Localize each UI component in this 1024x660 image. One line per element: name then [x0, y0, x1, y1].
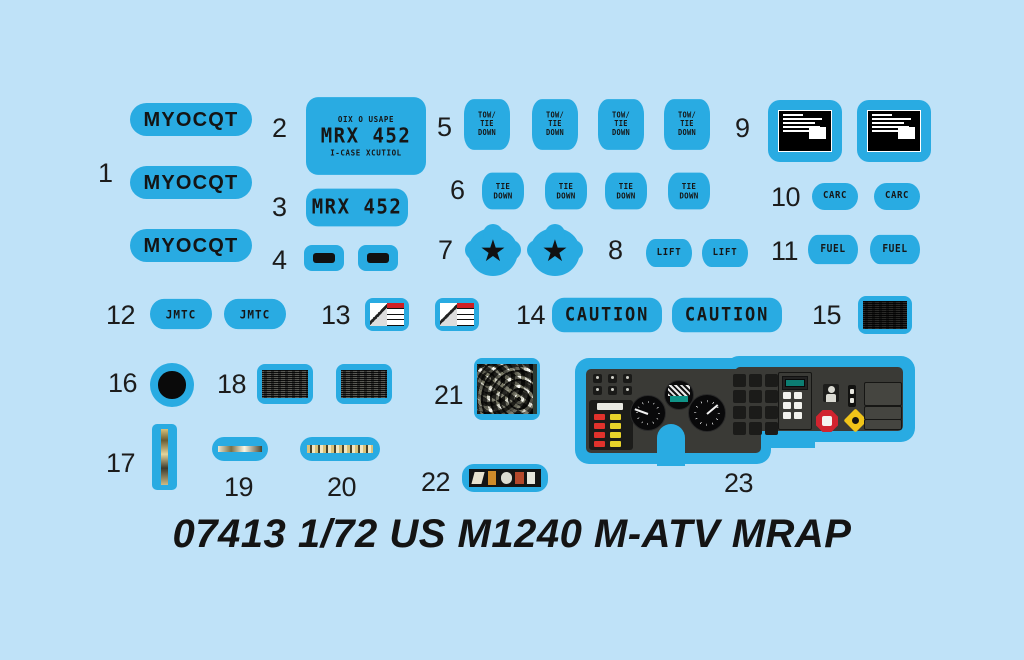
keypad-key[interactable]	[783, 392, 791, 399]
decal-number-7: 7	[438, 237, 453, 264]
decal-colour-strip[interactable]	[462, 464, 548, 492]
decal-text: LIFT	[657, 248, 682, 258]
breaker-cell[interactable]	[749, 390, 762, 403]
decal-number-14: 14	[516, 302, 545, 329]
decal-fuel-2[interactable]: FUEL	[870, 235, 920, 264]
decal-tow-tiedown-1[interactable]: TOW/ TIE DOWN	[464, 99, 510, 150]
decal-pictogram-13a[interactable]	[365, 298, 409, 331]
decal-number-23: 23	[724, 470, 753, 497]
switch-icon[interactable]	[608, 374, 617, 383]
breaker-cell[interactable]	[733, 374, 746, 387]
decal-star-1[interactable]: ★	[468, 228, 518, 276]
decal-tow-tiedown-4[interactable]: TOW/ TIE DOWN	[664, 99, 710, 150]
decal-star-2[interactable]: ★	[530, 228, 580, 276]
decal-placard-18b[interactable]	[336, 364, 392, 404]
indicator-light-yellow	[610, 423, 621, 429]
decal-text-line1: OIX O USAPE	[338, 115, 394, 123]
decal-text: CARC	[885, 192, 909, 202]
breaker-cell[interactable]	[749, 422, 762, 435]
colour-strip-graphic	[469, 469, 541, 486]
warning-pictogram-icon	[370, 303, 404, 327]
decal-text: FUEL	[820, 244, 845, 254]
placard-graphic	[262, 370, 308, 399]
decal-number-12: 12	[106, 302, 135, 329]
decal-myocqt-2[interactable]: MYOCQT	[130, 166, 252, 199]
keypad-key[interactable]	[794, 402, 802, 409]
decal-text: MRX 452	[312, 197, 403, 218]
decal-text-line3: DOWN	[612, 129, 630, 137]
decal-text-line2: TIE	[614, 121, 628, 129]
decal-text: CAUTION	[565, 306, 649, 324]
decal-text: CARC	[823, 192, 847, 202]
breaker-cell[interactable]	[765, 422, 778, 435]
decal-small-strip[interactable]	[212, 437, 268, 461]
tachometer-gauge	[688, 394, 726, 432]
instruction-plate-graphic	[863, 301, 907, 328]
decal-text-line3: I-CASE XCUTIOL	[330, 148, 402, 156]
indicator-light-yellow	[610, 441, 621, 447]
seat-icon	[823, 384, 839, 402]
decal-carc-2[interactable]: CARC	[874, 183, 920, 210]
decal-pictogram-4a[interactable]	[304, 245, 344, 271]
decal-carc-1[interactable]: CARC	[812, 183, 858, 210]
decal-text-line2: TIE	[548, 121, 562, 129]
decal-caution-2[interactable]: CAUTION	[672, 298, 782, 333]
breaker-cell[interactable]	[733, 406, 746, 419]
decal-text-line2: DOWN	[679, 192, 698, 200]
decal-text: MYOCQT	[144, 110, 239, 130]
dataplate-graphic	[867, 110, 922, 152]
star-icon: ★	[480, 237, 507, 267]
decal-text: JMTC	[166, 308, 197, 320]
decal-number-6: 6	[450, 177, 465, 204]
indicator-light-red	[594, 432, 605, 438]
speedometer-gauge	[630, 395, 666, 431]
switch-column-3[interactable]	[623, 374, 632, 395]
switch-column-2[interactable]	[608, 374, 617, 395]
switch-icon[interactable]	[608, 386, 617, 395]
decal-text: CAUTION	[685, 306, 769, 324]
decal-text-line2: DOWN	[493, 192, 512, 200]
decal-text-line2: DOWN	[616, 192, 635, 200]
page-title: 07413 1/72 US M1240 M-ATV MRAP	[0, 512, 1024, 557]
decal-text-line2: TIE	[480, 121, 494, 129]
decal-long-strip[interactable]	[300, 437, 380, 461]
decal-number-11: 11	[771, 238, 798, 265]
decal-text: JMTC	[240, 308, 271, 320]
decal-number-21: 21	[434, 382, 463, 409]
switch-column-1[interactable]	[593, 374, 602, 395]
decal-text-line2: MRX 452	[321, 126, 412, 147]
decal-mrx452-small[interactable]: MRX 452	[306, 189, 408, 227]
small-strip-graphic	[218, 446, 262, 451]
decal-number-3: 3	[272, 194, 287, 221]
decal-tow-tiedown-3[interactable]: TOW/ TIE DOWN	[598, 99, 644, 150]
decal-text-line1: TIE	[559, 182, 573, 190]
right-panel-lower	[864, 419, 902, 430]
black-dot-graphic	[158, 371, 185, 398]
decal-text: LIFT	[713, 248, 738, 258]
decal-number-19: 19	[224, 474, 253, 501]
keypad-key[interactable]	[783, 412, 791, 419]
decal-dataplate-1[interactable]	[768, 100, 842, 162]
dataplate-graphic	[778, 110, 833, 152]
decal-number-22: 22	[421, 469, 450, 496]
decal-text-line1: TIE	[619, 182, 633, 190]
decal-camo-panel[interactable]	[474, 358, 540, 420]
indicator-light-yellow	[610, 414, 621, 420]
decal-number-20: 20	[327, 474, 356, 501]
decal-sheet: 1 MYOCQT MYOCQT MYOCQT 2 OIX O USAPE MRX…	[0, 0, 1024, 660]
keypad-key[interactable]	[783, 402, 791, 409]
cluster-label	[597, 403, 623, 410]
gauge-bar	[670, 396, 688, 402]
pictogram-icon	[313, 253, 335, 263]
decal-text-line1: TIE	[682, 182, 696, 190]
vertical-strip-graphic	[161, 429, 168, 486]
decal-number-13: 13	[321, 302, 350, 329]
breaker-cell[interactable]	[749, 374, 762, 387]
decal-number-1: 1	[98, 160, 113, 187]
decal-text-line1: TOW/	[678, 112, 696, 120]
long-strip-graphic	[307, 445, 373, 452]
decal-number-17: 17	[106, 450, 135, 477]
decal-pictogram-13b[interactable]	[435, 298, 479, 331]
switch-icon[interactable]	[623, 374, 632, 383]
warning-pictogram-icon	[440, 303, 474, 327]
decal-black-circle[interactable]	[150, 363, 194, 407]
decal-lift-2[interactable]: LIFT	[702, 239, 748, 267]
toggle-switch[interactable]	[848, 385, 856, 407]
decal-number-15: 15	[812, 302, 841, 329]
decal-number-2: 2	[272, 115, 287, 142]
breaker-cell[interactable]	[765, 374, 778, 387]
right-panel-upper	[864, 382, 902, 406]
right-panel-mid	[864, 406, 902, 420]
decal-number-4: 4	[272, 247, 287, 274]
indicator-lights	[594, 414, 621, 447]
decal-text-line2: DOWN	[556, 192, 575, 200]
decal-tiedown-4[interactable]: TIE DOWN	[668, 173, 710, 210]
decal-text: MYOCQT	[144, 236, 239, 256]
decal-text-line1: TIE	[496, 182, 510, 190]
decal-pictogram-4b[interactable]	[358, 245, 398, 271]
decal-tiedown-1[interactable]: TIE DOWN	[482, 173, 524, 210]
decal-number-18: 18	[217, 371, 246, 398]
decal-placard-18a[interactable]	[257, 364, 313, 404]
decal-text: FUEL	[882, 244, 907, 254]
decal-myocqt-3[interactable]: MYOCQT	[130, 229, 252, 262]
decal-text-line3: DOWN	[546, 129, 564, 137]
breaker-cell[interactable]	[733, 390, 746, 403]
gauge-face	[668, 385, 689, 396]
camouflage-graphic	[477, 364, 538, 414]
switch-icon[interactable]	[623, 386, 632, 395]
decal-dashboard[interactable]	[575, 356, 915, 466]
decal-jmtc-2[interactable]: JMTC	[224, 299, 286, 329]
lcd-screen	[785, 379, 804, 387]
decal-text-line3: DOWN	[678, 129, 696, 137]
indicator-light-red	[594, 414, 605, 420]
breaker-cell[interactable]	[733, 422, 746, 435]
breaker-cell[interactable]	[749, 406, 762, 419]
decal-text-line1: TOW/	[546, 112, 564, 120]
decal-text-line3: DOWN	[478, 129, 496, 137]
decal-tiedown-2[interactable]: TIE DOWN	[545, 173, 587, 210]
breaker-cell[interactable]	[765, 390, 778, 403]
decal-myocqt-1[interactable]: MYOCQT	[130, 103, 252, 136]
decal-caution-1[interactable]: CAUTION	[552, 298, 662, 333]
decal-number-16: 16	[108, 370, 137, 397]
decal-text-line1: TOW/	[478, 112, 496, 120]
decal-text-line2: TIE	[680, 121, 694, 129]
breaker-grid[interactable]	[733, 374, 778, 435]
star-icon: ★	[542, 237, 569, 267]
breaker-cell[interactable]	[765, 406, 778, 419]
decal-lift-1[interactable]: LIFT	[646, 239, 692, 267]
decal-number-8: 8	[608, 237, 623, 264]
keypad-key[interactable]	[794, 412, 802, 419]
gauge-needle	[706, 404, 718, 415]
decal-fuel-1[interactable]: FUEL	[808, 235, 858, 264]
dashboard-notch	[657, 424, 685, 466]
decal-instruction-plate[interactable]	[858, 296, 912, 334]
indicator-light-red	[594, 441, 605, 447]
switch-icon[interactable]	[593, 386, 602, 395]
decal-text: MYOCQT	[144, 173, 239, 193]
decal-vertical-strip[interactable]	[152, 424, 177, 490]
decal-mrx452-plate[interactable]: OIX O USAPE MRX 452 I-CASE XCUTIOL	[306, 97, 426, 175]
decal-number-5: 5	[437, 114, 452, 141]
decal-dataplate-2[interactable]	[857, 100, 931, 162]
keypad-key[interactable]	[794, 392, 802, 399]
lcd-display	[782, 376, 808, 390]
gauge-needle	[635, 408, 648, 415]
decal-jmtc-1[interactable]: JMTC	[150, 299, 212, 329]
indicator-light-yellow	[610, 432, 621, 438]
placard-graphic	[341, 370, 387, 399]
decal-number-9: 9	[735, 115, 750, 142]
decal-text-line1: TOW/	[612, 112, 630, 120]
decal-number-10: 10	[771, 184, 800, 211]
decal-tiedown-3[interactable]: TIE DOWN	[605, 173, 647, 210]
pictogram-icon	[367, 253, 389, 263]
keypad-buttons[interactable]	[783, 392, 802, 419]
switch-icon[interactable]	[593, 374, 602, 383]
indicator-light-red	[594, 423, 605, 429]
decal-tow-tiedown-2[interactable]: TOW/ TIE DOWN	[532, 99, 578, 150]
